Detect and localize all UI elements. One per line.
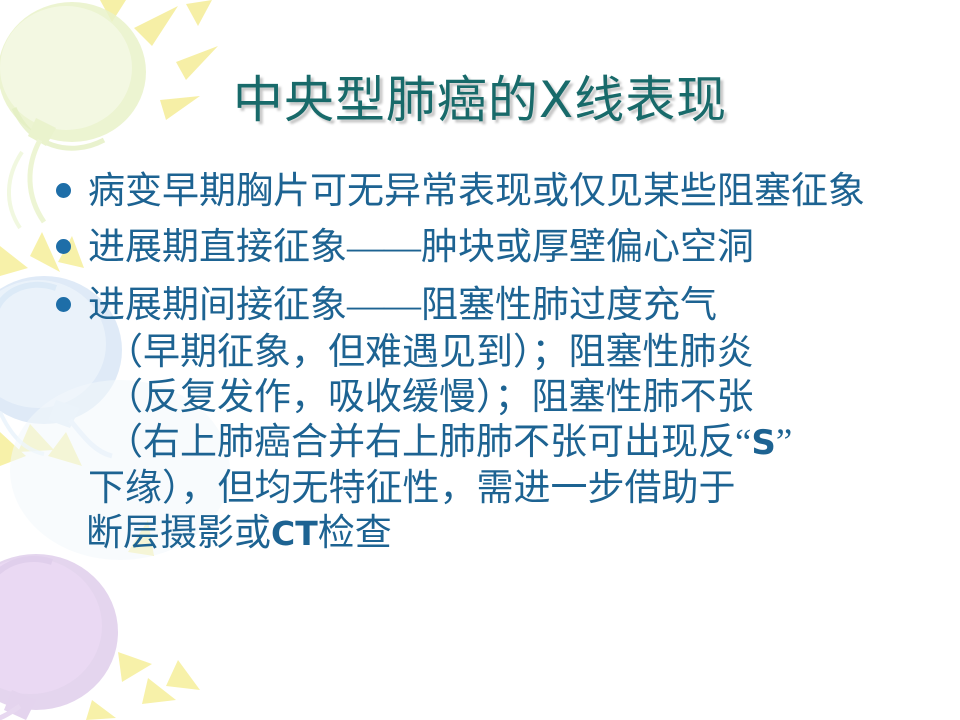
list-item: 进展期直接征象——肿块或厚壁偏心空洞 <box>0 224 960 272</box>
continuation-line-4: 下缘），但均无特征性，需进一步借助于 <box>0 466 960 511</box>
list-item: 进展期间接征象——阻塞性肺过度充气 <box>0 282 960 330</box>
bullet-dot-icon <box>56 183 71 198</box>
reverse-s-letter: S <box>751 423 776 463</box>
continuation-line-1: （早期征象，但难遇见到）；阻塞性肺炎 <box>0 330 960 375</box>
continuation-line-5-tail: 检查 <box>318 513 392 554</box>
body-container: 病变早期胸片可无异常表现或仅见某些阻塞征象 进展期直接征象——肿块或厚壁偏心空洞… <box>0 168 960 556</box>
continuation-line-3-text: （右上肺癌合并右上肺肺不张可出现反“ <box>106 422 751 463</box>
spacer <box>0 216 960 224</box>
spacer <box>0 272 960 282</box>
continuation-line-2: （反复发作，吸收缓慢）；阻塞性肺不张 <box>0 375 960 420</box>
bullet-text-3: 进展期间接征象——阻塞性肺过度充气 <box>88 282 942 330</box>
bullet-dot-icon <box>56 239 71 254</box>
continuation-line-5: 断层摄影或CT检查 <box>0 511 960 556</box>
bullet-text-1: 病变早期胸片可无异常表现或仅见某些阻塞征象 <box>88 168 878 216</box>
ct-abbreviation: CT <box>271 514 318 553</box>
title-container: 中央型肺癌的X线表现 <box>0 74 960 127</box>
continuation-line-3-quote: ” <box>776 422 792 463</box>
purple-balloon <box>0 554 118 720</box>
continuation-line-3: （右上肺癌合并右上肺肺不张可出现反“S” <box>0 420 960 466</box>
slide-canvas: 中央型肺癌的X线表现 病变早期胸片可无异常表现或仅见某些阻塞征象 进展期直接征象… <box>0 0 960 720</box>
page-title: 中央型肺癌的X线表现 <box>233 74 727 127</box>
continuation-line-5-text: 断层摄影或 <box>86 513 271 554</box>
bullet-text-2: 进展期直接征象——肿块或厚壁偏心空洞 <box>88 224 942 272</box>
bullet-dot-icon <box>56 297 71 312</box>
list-item: 病变早期胸片可无异常表现或仅见某些阻塞征象 <box>0 168 960 216</box>
